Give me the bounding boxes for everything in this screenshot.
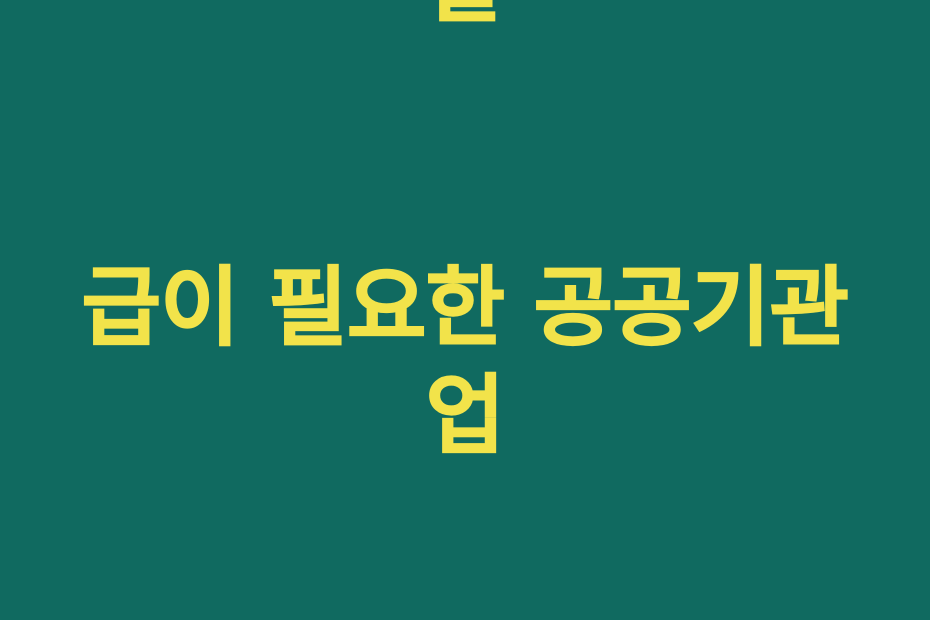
page-title: 주민등록등본 인터넷 발 급이 필요한 공공기관 업 무와 활용 사례 [65,0,865,620]
headline-line-1: 주민등록등본 인터넷 발 [65,0,865,38]
title-card: 주민등록등본 인터넷 발 급이 필요한 공공기관 업 무와 활용 사례 [0,0,930,620]
headline-line-2: 급이 필요한 공공기관 업 [65,254,865,470]
